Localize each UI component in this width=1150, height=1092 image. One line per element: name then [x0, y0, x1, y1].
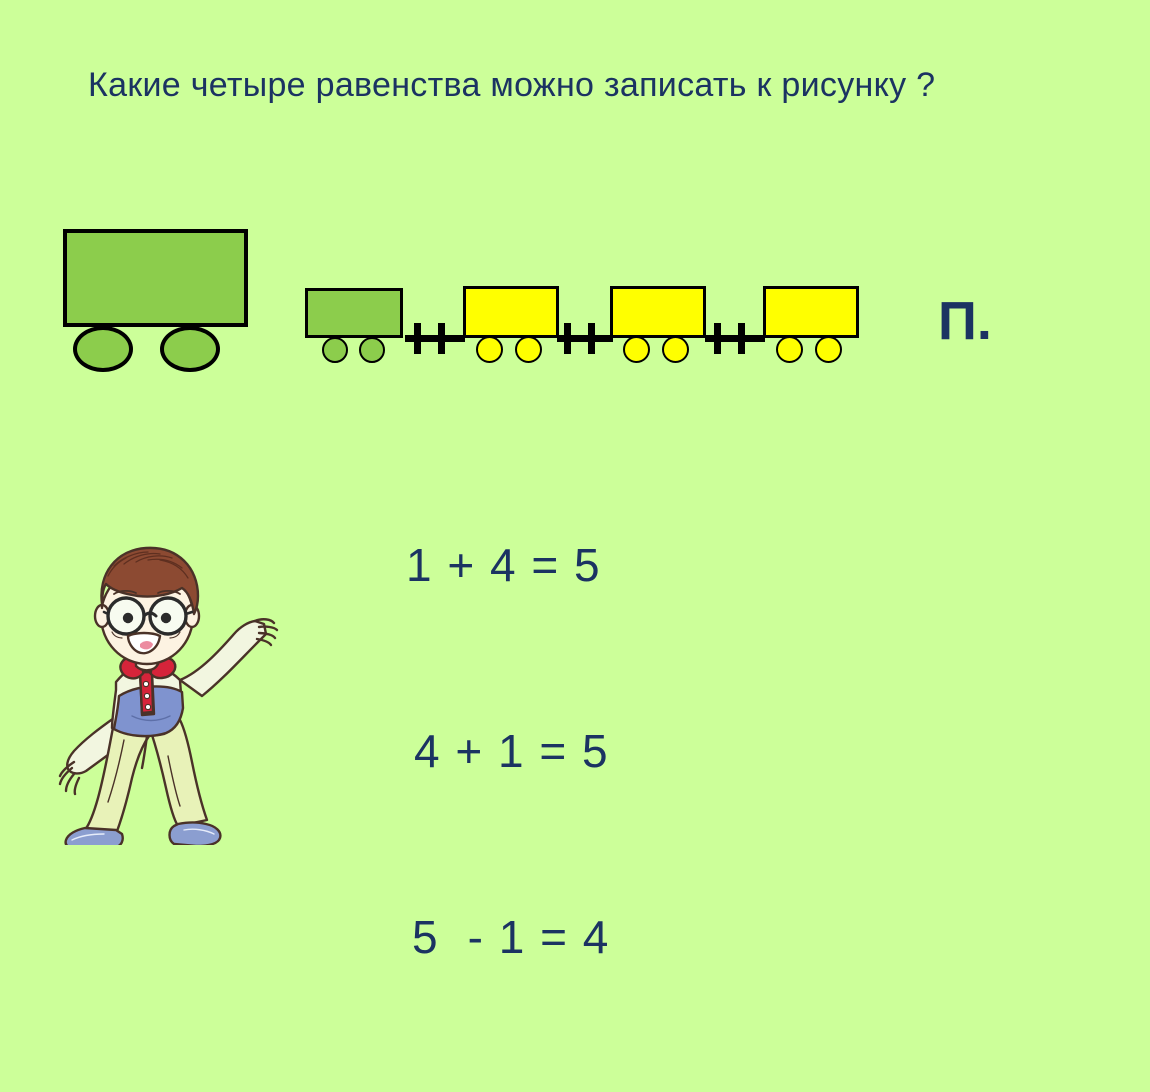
car-wheel [476, 336, 503, 363]
car-wheel [662, 336, 689, 363]
cartoon-boy-pointing [52, 530, 282, 845]
train-car-yellow [463, 280, 563, 372]
coupling-tick [564, 323, 571, 354]
car-wheel [322, 337, 348, 363]
equation-line: 5 - 1 = 4 [406, 906, 706, 968]
car-wheel [515, 336, 542, 363]
equation-line: 1 + 4 = 5 [406, 534, 706, 596]
page-title: Какие четыре равенства можно записать к … [88, 66, 1068, 105]
coupling-tick [414, 323, 421, 354]
car-body [610, 286, 706, 338]
coupling-tick [714, 323, 721, 354]
train-coupling [705, 320, 765, 356]
car-body [763, 286, 859, 338]
side-label-pi: П. [938, 294, 992, 348]
train-car-green [305, 280, 410, 372]
slide-canvas: Какие четыре равенства можно записать к … [0, 0, 1150, 864]
wagon-wheel [73, 326, 133, 372]
train-coupling [405, 320, 465, 356]
car-wheel [776, 336, 803, 363]
car-body [305, 288, 403, 338]
wagon-body [63, 229, 248, 327]
coupling-tick [438, 323, 445, 354]
train-car-yellow [610, 280, 710, 372]
car-wheel [623, 336, 650, 363]
train-of-five-wagons [305, 280, 875, 375]
car-wheel [815, 336, 842, 363]
large-green-wagon [60, 226, 260, 376]
train-car-yellow [763, 280, 863, 372]
equations-list: 1 + 4 = 5 4 + 1 = 5 5 - 1 = 4 [406, 410, 706, 1092]
coupling-tick [738, 323, 745, 354]
car-body [463, 286, 559, 338]
wagon-wheel [160, 326, 220, 372]
car-wheel [359, 337, 385, 363]
equation-line: 4 + 1 = 5 [406, 720, 706, 782]
coupling-tick [588, 323, 595, 354]
train-coupling [557, 320, 613, 356]
